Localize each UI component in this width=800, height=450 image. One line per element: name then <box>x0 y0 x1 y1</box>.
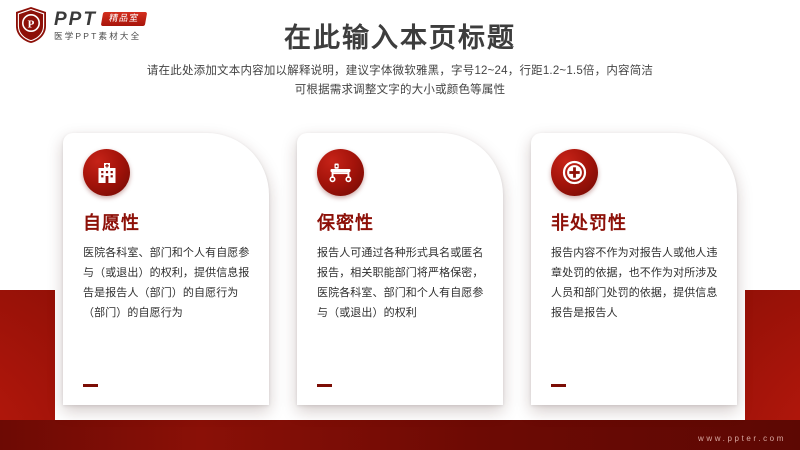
subtitle-line-1: 请在此处添加文本内容加以解释说明，建议字体微软雅黑，字号12~24，行距1.2~… <box>0 62 800 81</box>
site-watermark: www.ppter.com <box>698 434 786 443</box>
shield-p-icon: P <box>14 6 48 44</box>
card-group: 自愿性 医院各科室、部门和个人有自愿参与（或退出）的权利，提供信息报告是报告人（… <box>0 133 800 413</box>
card-heading: 保密性 <box>317 214 485 232</box>
card-heading: 非处罚性 <box>551 214 719 232</box>
stretcher-icon <box>317 149 364 196</box>
logo-badge: 精品室 <box>101 12 147 26</box>
card-body: 医院各科室、部门和个人有自愿参与（或退出）的权利，提供信息报告是报告人（部门）的… <box>83 243 251 323</box>
logo-tagline: 医学PPT素材大全 <box>54 32 146 41</box>
card-non-punitive[interactable]: 非处罚性 报告内容不作为对报告人或他人违章处罚的依据，也不作为对所涉及人员和部门… <box>531 133 737 405</box>
card-voluntary[interactable]: 自愿性 医院各科室、部门和个人有自愿参与（或退出）的权利，提供信息报告是报告人（… <box>63 133 269 405</box>
card-body: 报告人可通过各种形式具名或匿名报告，相关职能部门将严格保密，医院各科室、部门和个… <box>317 243 485 323</box>
card-body: 报告内容不作为对报告人或他人违章处罚的依据，也不作为对所涉及人员和部门处罚的依据… <box>551 243 719 323</box>
hospital-building-icon <box>83 149 130 196</box>
background-bottom-band <box>0 420 800 450</box>
card-confidentiality[interactable]: 保密性 报告人可通过各种形式具名或匿名报告，相关职能部门将严格保密，医院各科室、… <box>297 133 503 405</box>
medical-cross-circle-icon <box>551 149 598 196</box>
logo-top-row: PPT 精品室 <box>54 10 146 29</box>
logo-ppt-text: PPT <box>54 10 97 29</box>
card-accent-dash <box>317 384 332 387</box>
card-accent-dash <box>83 384 98 387</box>
logo-wordmark: PPT 精品室 医学PPT素材大全 <box>54 10 146 41</box>
card-heading: 自愿性 <box>83 214 251 232</box>
page-subtitle: 请在此处添加文本内容加以解释说明，建议字体微软雅黑，字号12~24，行距1.2~… <box>0 62 800 100</box>
brand-logo: P PPT 精品室 医学PPT素材大全 <box>14 6 146 44</box>
svg-text:P: P <box>28 19 35 31</box>
subtitle-line-2: 可根据需求调整文字的大小或颜色等属性 <box>0 81 800 100</box>
card-accent-dash <box>551 384 566 387</box>
